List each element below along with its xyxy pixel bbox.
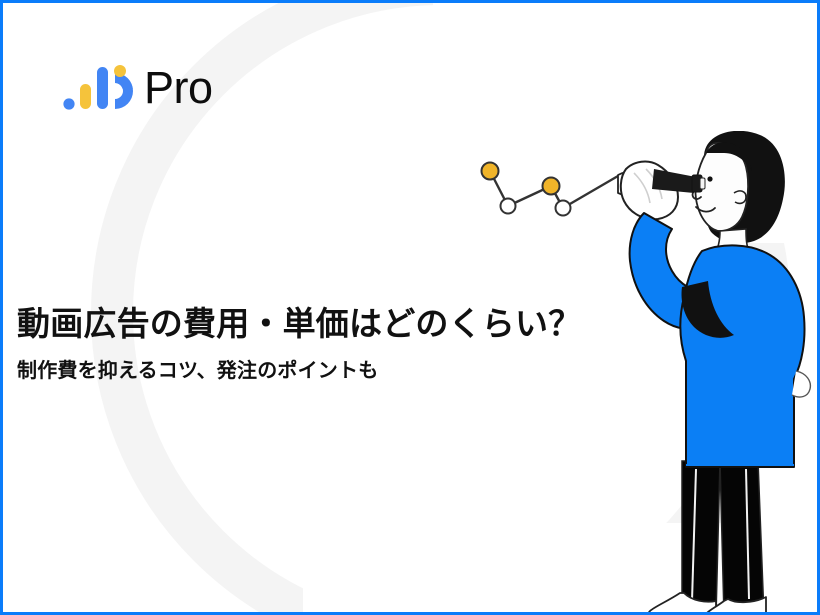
d-pro-logo-mark (63, 62, 141, 112)
brand-logo-text: Pro (144, 65, 213, 110)
slide-canvas: Pro 動画広告の費用・単価はどのくらい？ 制作費を抑えるコツ、発注のポイントも (0, 0, 820, 615)
head-and-hair (693, 131, 785, 255)
hero-illustration (458, 131, 820, 615)
torso-blue-sweater (630, 213, 811, 467)
legs-and-shoes (648, 461, 766, 615)
brand-logo[interactable]: Pro (63, 59, 213, 115)
arm-and-marker (618, 162, 705, 220)
line-chart-graphic (482, 163, 619, 216)
